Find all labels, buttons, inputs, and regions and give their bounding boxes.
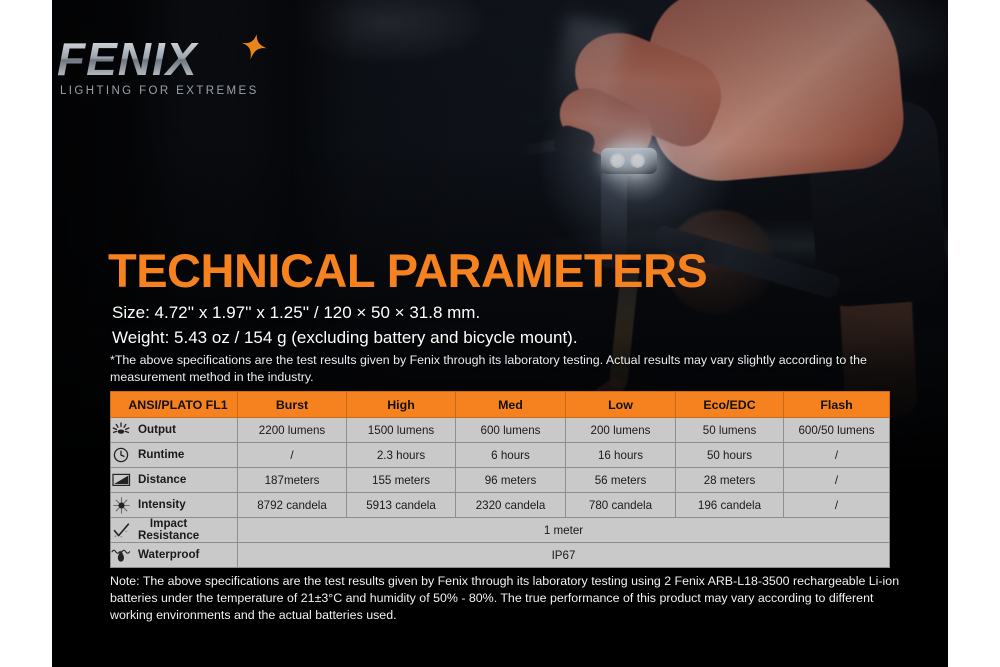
- cell-distance-high: 155 meters: [347, 468, 456, 493]
- disclaimer-text: *The above specifications are the test r…: [110, 352, 900, 385]
- cell-intensity-med: 2320 candela: [456, 493, 566, 518]
- page-root: FENIX LIGHTING FOR EXTREMES TECHNICAL PA…: [0, 0, 1000, 667]
- row-label-output: Output: [111, 418, 238, 443]
- technical-parameters-table: ANSI/PLATO FL1 Burst High Med Low Eco/ED…: [110, 391, 890, 568]
- cell-distance-med: 96 meters: [456, 468, 566, 493]
- cell-runtime-flash: /: [784, 443, 890, 468]
- table-row: Runtime / 2.3 hours 6 hours 16 hours 50 …: [111, 443, 890, 468]
- row-label-text: Waterproof: [138, 549, 199, 561]
- cell-output-eco: 50 lumens: [676, 418, 784, 443]
- row-label-text: Impact Resistance: [138, 518, 199, 542]
- row-label-runtime: Runtime: [111, 443, 238, 468]
- fenix-logo-wordmark: FENIX: [57, 36, 327, 82]
- table-row: Impact Resistance 1 meter: [111, 518, 890, 543]
- table-header-med: Med: [456, 392, 566, 418]
- waterproof-icon: [111, 546, 131, 564]
- table-header-burst: Burst: [238, 392, 347, 418]
- cell-runtime-burst: /: [238, 443, 347, 468]
- cell-impact-resistance-value: 1 meter: [238, 518, 890, 543]
- fenix-logo: FENIX LIGHTING FOR EXTREMES: [57, 36, 327, 97]
- content-layer: FENIX LIGHTING FOR EXTREMES TECHNICAL PA…: [0, 0, 1000, 667]
- cell-output-low: 200 lumens: [566, 418, 676, 443]
- cell-intensity-burst: 8792 candela: [238, 493, 347, 518]
- cell-intensity-low: 780 candela: [566, 493, 676, 518]
- fenix-logo-tagline: LIGHTING FOR EXTREMES: [60, 85, 327, 97]
- row-label-text: Runtime: [138, 449, 184, 461]
- beam-distance-icon: [111, 471, 131, 489]
- row-label-waterproof: Waterproof: [111, 543, 238, 568]
- size-weight-block: Size: 4.72'' x 1.97'' x 1.25'' / 120 × 5…: [112, 300, 578, 350]
- cell-output-high: 1500 lumens: [347, 418, 456, 443]
- weight-line: Weight: 5.43 oz / 154 g (excluding batte…: [112, 325, 578, 350]
- size-line: Size: 4.72'' x 1.97'' x 1.25'' / 120 × 5…: [112, 300, 578, 325]
- page-title: TECHNICAL PARAMETERS: [108, 247, 707, 294]
- cell-runtime-med: 6 hours: [456, 443, 566, 468]
- cell-distance-flash: /: [784, 468, 890, 493]
- table-header-eco-edc: Eco/EDC: [676, 392, 784, 418]
- row-label-text: Output: [138, 424, 176, 436]
- cell-output-burst: 2200 lumens: [238, 418, 347, 443]
- table-header-row: ANSI/PLATO FL1 Burst High Med Low Eco/ED…: [111, 392, 890, 418]
- table-header-flash: Flash: [784, 392, 890, 418]
- cell-output-med: 600 lumens: [456, 418, 566, 443]
- table-row: Distance 187meters 155 meters 96 meters …: [111, 468, 890, 493]
- table-header-low: Low: [566, 392, 676, 418]
- light-burst-icon: [111, 421, 131, 439]
- table-row: Intensity 8792 candela 5913 candela 2320…: [111, 493, 890, 518]
- row-label-text: Distance: [138, 474, 186, 486]
- cell-distance-burst: 187meters: [238, 468, 347, 493]
- cell-runtime-low: 16 hours: [566, 443, 676, 468]
- cell-waterproof-value: IP67: [238, 543, 890, 568]
- row-label-impact-resistance: Impact Resistance: [111, 518, 238, 543]
- cell-runtime-eco: 50 hours: [676, 443, 784, 468]
- row-label-distance: Distance: [111, 468, 238, 493]
- table-header-high: High: [347, 392, 456, 418]
- cell-intensity-high: 5913 candela: [347, 493, 456, 518]
- footer-note: Note: The above specifications are the t…: [110, 573, 905, 624]
- cell-output-flash: 600/50 lumens: [784, 418, 890, 443]
- table-row: Output 2200 lumens 1500 lumens 600 lumen…: [111, 418, 890, 443]
- cell-runtime-high: 2.3 hours: [347, 443, 456, 468]
- cell-intensity-eco: 196 candela: [676, 493, 784, 518]
- star-icon: [239, 32, 270, 63]
- impact-resistance-icon: [111, 521, 131, 539]
- table-row: Waterproof IP67: [111, 543, 890, 568]
- row-label-text: Intensity: [138, 499, 186, 511]
- cell-distance-low: 56 meters: [566, 468, 676, 493]
- clock-icon: [111, 446, 131, 464]
- cell-intensity-flash: /: [784, 493, 890, 518]
- cell-distance-eco: 28 meters: [676, 468, 784, 493]
- table-header-ansi: ANSI/PLATO FL1: [111, 392, 238, 418]
- row-label-intensity: Intensity: [111, 493, 238, 518]
- crosshair-intensity-icon: [111, 496, 131, 514]
